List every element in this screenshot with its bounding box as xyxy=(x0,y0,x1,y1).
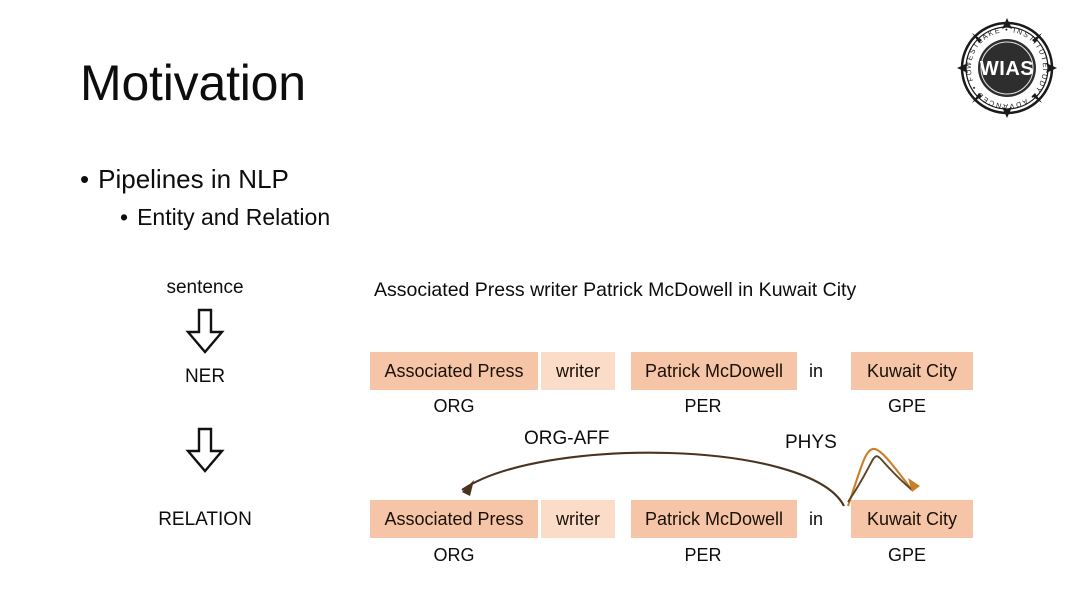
stage-label-relation: RELATION xyxy=(120,509,290,531)
stage-label-ner: NER xyxy=(120,366,290,388)
ner-type-label-gpe: GPE xyxy=(846,396,968,417)
relation-token-patrick-mcdowell: Patrick McDowell xyxy=(631,500,797,538)
relation-token-row: Associated Press writer Patrick McDowell… xyxy=(370,500,973,538)
ner-type-label-per: PER xyxy=(620,396,786,417)
ner-token-kuwait-city: Kuwait City xyxy=(851,352,973,390)
logo-center-text: WIAS xyxy=(980,58,1034,80)
relation-token-in: in xyxy=(797,500,835,538)
sub-bullet-marker-icon: • xyxy=(120,204,128,230)
token-spacer xyxy=(835,500,851,538)
ner-token-associated-press: Associated Press xyxy=(370,352,538,390)
relation-type-label-org: ORG xyxy=(370,545,538,566)
ner-token-in: in xyxy=(797,352,835,390)
down-arrow-icon xyxy=(185,427,225,473)
relation-label-phys: PHYS xyxy=(785,432,837,454)
bullet-level1: •Pipelines in NLP xyxy=(80,165,289,195)
bullet-level2-label: Entity and Relation xyxy=(137,204,330,230)
relation-arc-group xyxy=(420,418,950,510)
bullet-level2: •Entity and Relation xyxy=(120,204,330,230)
relation-type-label-gpe: GPE xyxy=(846,545,968,566)
bullet-level1-label: Pipelines in NLP xyxy=(98,164,289,194)
ner-type-label-org: ORG xyxy=(370,396,538,417)
ner-token-row: Associated Press writer Patrick McDowell… xyxy=(370,352,973,390)
relation-token-kuwait-city: Kuwait City xyxy=(851,500,973,538)
slide-canvas: Motivation •Pipelines in NLP •Entity and… xyxy=(0,0,1080,607)
relation-token-associated-press: Associated Press xyxy=(370,500,538,538)
down-arrow-icon xyxy=(185,308,225,354)
relation-arc-org-aff-path xyxy=(462,453,844,506)
token-spacer xyxy=(615,500,631,538)
wias-logo: WESTLAKE • INSTITUTE STUDY • ADVANCED • … xyxy=(957,18,1057,118)
page-title: Motivation xyxy=(80,58,306,108)
input-sentence-text: Associated Press writer Patrick McDowell… xyxy=(374,279,856,302)
relation-type-label-per: PER xyxy=(620,545,786,566)
relation-token-writer: writer xyxy=(541,500,615,538)
stage-label-sentence: sentence xyxy=(120,277,290,299)
ner-token-writer: writer xyxy=(541,352,615,390)
token-spacer xyxy=(835,352,851,390)
relation-label-org-aff: ORG-AFF xyxy=(524,428,610,450)
ner-token-patrick-mcdowell: Patrick McDowell xyxy=(631,352,797,390)
relation-arrowhead-phys xyxy=(908,478,920,492)
token-spacer xyxy=(615,352,631,390)
bullet-marker-icon: • xyxy=(80,165,89,195)
